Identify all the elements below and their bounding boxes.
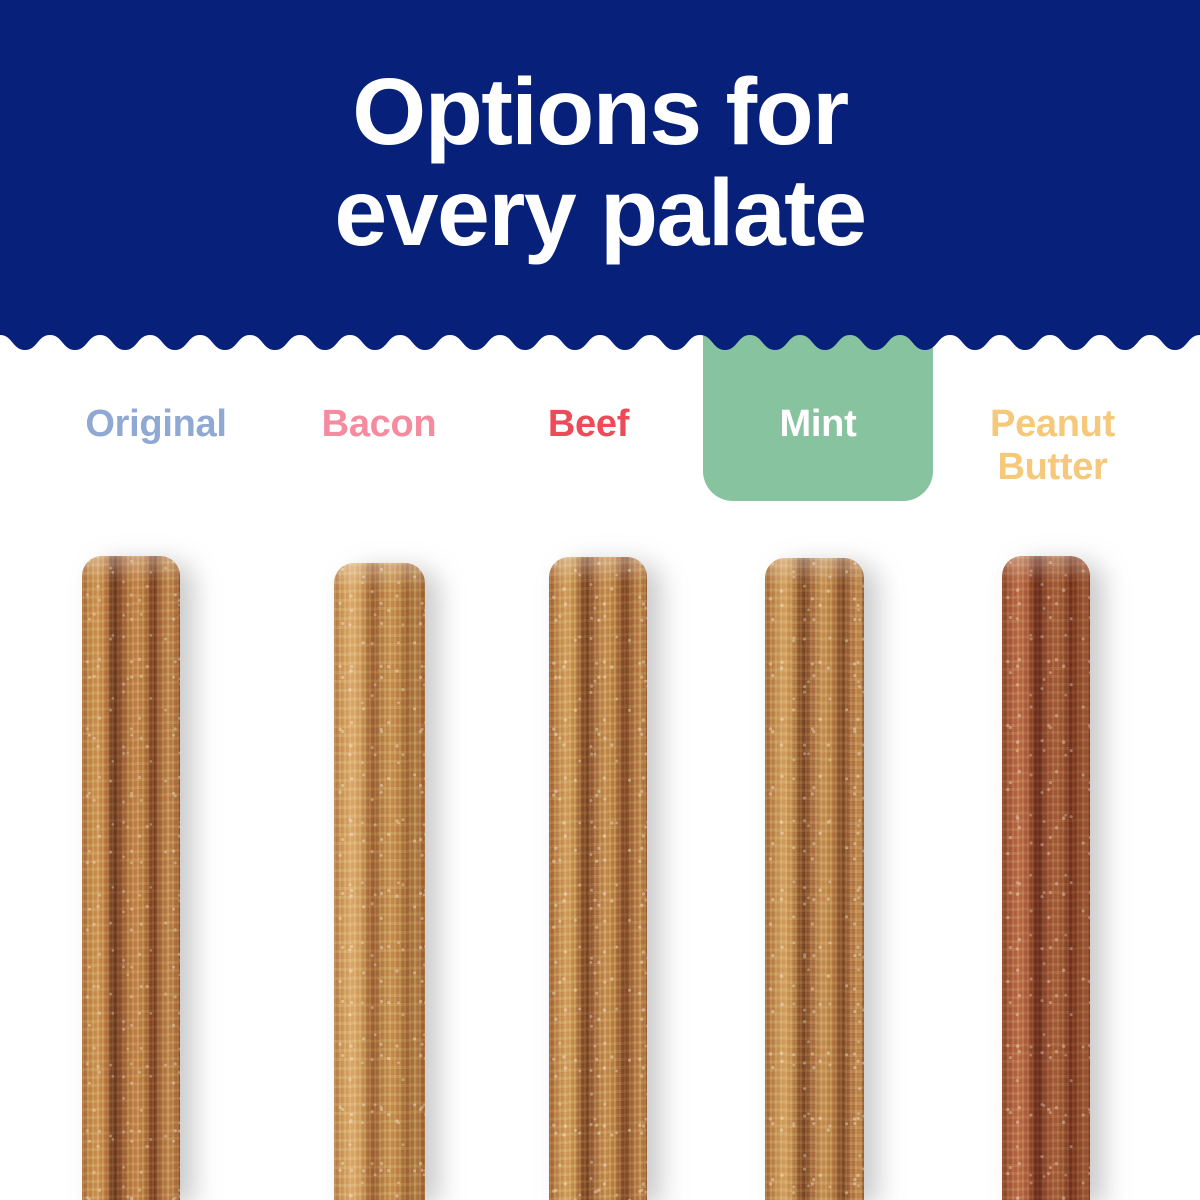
chew-stick-top-highlight (549, 557, 647, 583)
chew-stick-beef (549, 557, 647, 1200)
header-scalloped-edge (0, 333, 1200, 363)
chew-stick-mint (765, 558, 864, 1200)
chew-stick-body (334, 563, 425, 1200)
flavor-tab-bar: Original Bacon Beef Mint Peanut Butter (0, 335, 1200, 535)
chew-stick-top-highlight (82, 556, 180, 582)
chew-stick-original (82, 556, 180, 1200)
chew-stick-body (1002, 556, 1090, 1200)
chew-stick-body (549, 557, 647, 1200)
chew-stick-body (765, 558, 864, 1200)
page-title: Options for every palate (0, 62, 1200, 263)
chew-stick-body (82, 556, 180, 1200)
chew-stick-peanut-butter (1002, 556, 1090, 1200)
chew-stick-top-highlight (1002, 556, 1090, 582)
chew-stick-bacon (334, 563, 425, 1200)
chew-stick-top-highlight (765, 558, 864, 584)
product-flavor-graphic: Original Bacon Beef Mint Peanut Butter O… (0, 0, 1200, 1200)
chew-stick-top-highlight (334, 563, 425, 589)
